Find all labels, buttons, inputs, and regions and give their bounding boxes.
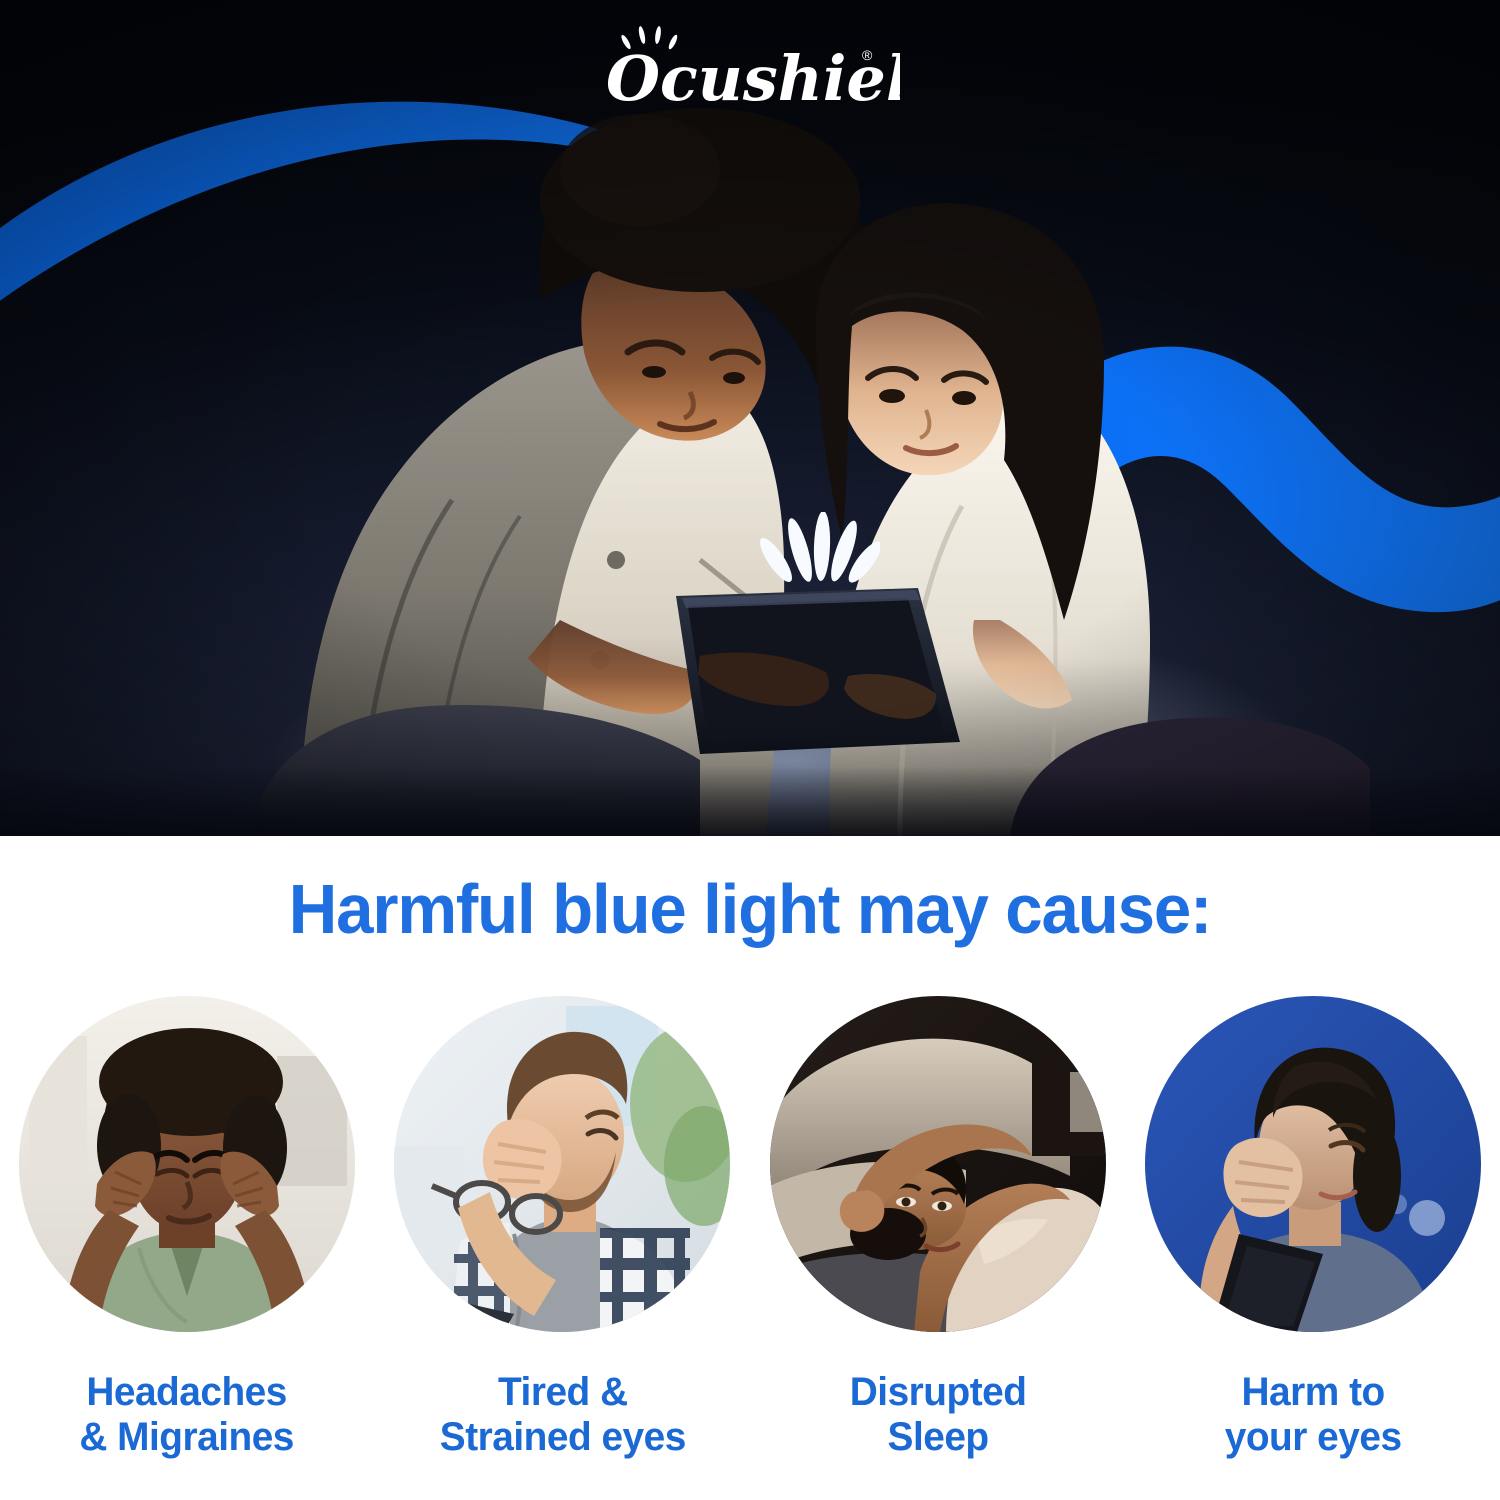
symptom-card-headaches: Headaches & Migraines xyxy=(2,996,372,1460)
hero-bottom-fade xyxy=(0,766,1500,836)
woman-with-headache-photo xyxy=(19,996,355,1332)
symptom-card-eye-harm: Harm to your eyes xyxy=(1128,996,1498,1460)
symptom-caption-headaches: Headaches & Migraines xyxy=(80,1370,295,1460)
caption-line-1: Tired & xyxy=(439,1370,685,1415)
woman-on-phone-at-night-photo xyxy=(1145,996,1481,1332)
brand-wordmark: Ocushield xyxy=(606,42,900,115)
page-headline: Harmful blue light may cause: xyxy=(30,874,1470,944)
caption-line-2: & Migraines xyxy=(80,1415,295,1460)
hero-section: Ocushield ® xyxy=(0,0,1500,836)
symptom-caption-disrupted-sleep: Disrupted Sleep xyxy=(849,1370,1026,1460)
caption-line-1: Disrupted xyxy=(849,1370,1026,1415)
caption-line-1: Harm to xyxy=(1225,1370,1402,1415)
light-rays-icon xyxy=(760,512,880,592)
woman-awake-in-bed-photo xyxy=(770,996,1106,1332)
symptom-card-list: Headaches & Migraines xyxy=(0,996,1500,1496)
symptom-caption-eye-harm: Harm to your eyes xyxy=(1225,1370,1402,1460)
caption-line-2: Strained eyes xyxy=(439,1415,685,1460)
caption-line-2: your eyes xyxy=(1225,1415,1402,1460)
symptom-card-tired-eyes: Tired & Strained eyes xyxy=(377,996,747,1460)
hero-photo xyxy=(0,0,1500,836)
caption-line-1: Headaches xyxy=(80,1370,295,1415)
symptom-card-disrupted-sleep: Disrupted Sleep xyxy=(753,996,1123,1460)
benefits-panel: Harmful blue light may cause: xyxy=(0,836,1500,1500)
product-infographic: Ocushield ® Harmful blue light may cause… xyxy=(0,0,1500,1500)
registered-trademark-icon: ® xyxy=(862,47,873,63)
symptom-caption-tired-eyes: Tired & Strained eyes xyxy=(439,1370,685,1460)
man-rubbing-tired-eyes-photo xyxy=(394,996,730,1332)
brand-logo: Ocushield ® xyxy=(0,26,1500,118)
caption-line-2: Sleep xyxy=(849,1415,1026,1460)
